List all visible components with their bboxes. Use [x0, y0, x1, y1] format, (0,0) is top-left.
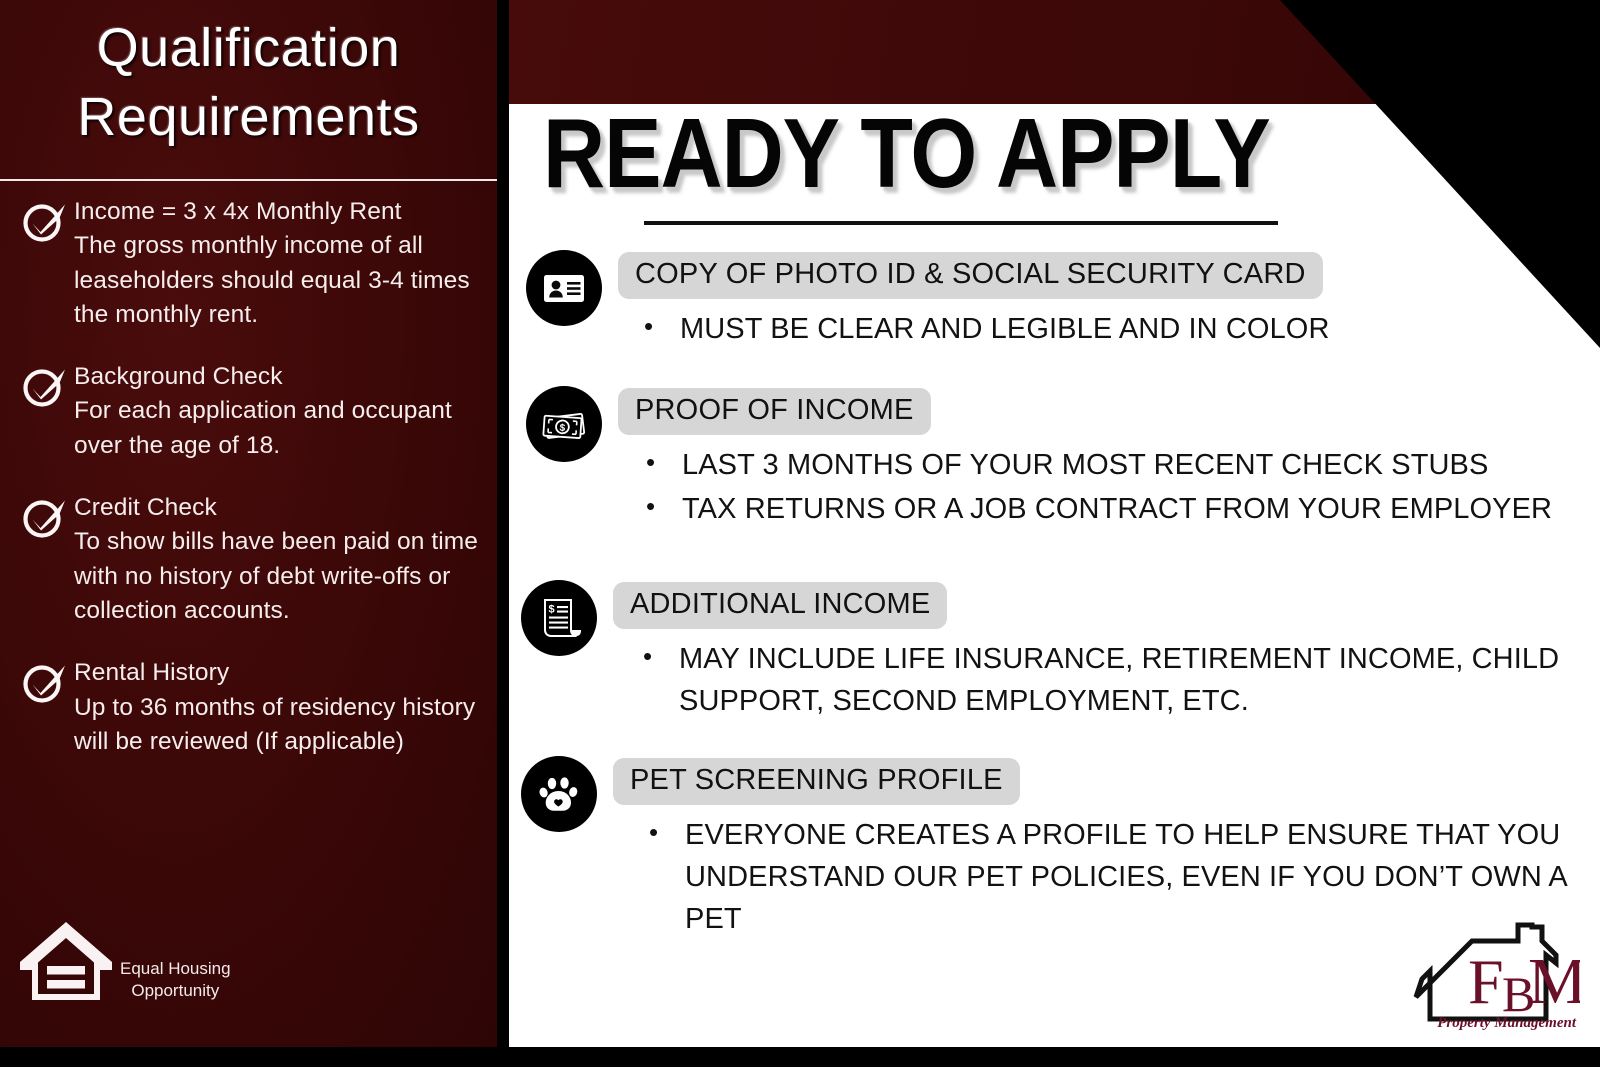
section-body: PROOF OF INCOME LAST 3 MONTHS OF YOUR MO… [618, 386, 1586, 533]
ready-to-apply-title: READY TO APPLY [543, 105, 1270, 203]
section-label: PROOF OF INCOME [618, 388, 931, 435]
svg-text:Property Management: Property Management [1437, 1015, 1577, 1031]
section-photo-id: COPY OF PHOTO ID & SOCIAL SECURITY CARD … [526, 250, 1586, 353]
section-proof-of-income: $ PROOF OF INCOME LAST 3 MONTHS OF YOUR … [526, 386, 1586, 533]
list-item: Background Check For each application an… [14, 358, 487, 463]
equal-housing-line-1: Equal Housing [120, 958, 231, 981]
svg-text:M: M [1528, 945, 1580, 1018]
check-circle-icon [14, 193, 74, 249]
page-title-line-1: Qualification [12, 14, 485, 83]
title-underline-rule [644, 221, 1278, 225]
equal-housing-line-2: Opportunity [120, 980, 231, 1003]
check-circle-icon [14, 489, 74, 545]
paw-print-icon [521, 756, 597, 832]
list-item-heading: Background Check [74, 360, 487, 394]
section-bullet-list: LAST 3 MONTHS OF YOUR MOST RECENT CHECK … [618, 445, 1586, 531]
section-body: ADDITIONAL INCOME MAY INCLUDE LIFE INSUR… [613, 580, 1586, 725]
page-title-line-2: Requirements [12, 83, 485, 152]
list-item-heading: Rental History [74, 656, 487, 690]
equal-housing-opportunity-logo: Equal Housing Opportunity [18, 918, 231, 1009]
check-circle-icon [14, 358, 74, 414]
section-body: COPY OF PHOTO ID & SOCIAL SECURITY CARD … [618, 250, 1586, 353]
svg-text:$: $ [548, 604, 554, 616]
section-label: ADDITIONAL INCOME [613, 582, 947, 629]
list-item: LAST 3 MONTHS OF YOUR MOST RECENT CHECK … [646, 445, 1586, 487]
requirements-list: Income = 3 x 4x Monthly Rent The gross m… [0, 193, 497, 759]
svg-text:F: F [1468, 946, 1504, 1017]
ready-to-apply-panel: READY TO APPLY COPY OF PHOTO ID & SOCIAL… [509, 0, 1600, 1047]
list-item-body: To show bills have been paid on time wit… [74, 525, 487, 628]
list-item: Credit Check To show bills have been pai… [14, 489, 487, 628]
list-item-body: Up to 36 months of residency history wil… [74, 691, 487, 760]
list-item-heading: Credit Check [74, 491, 487, 525]
equal-housing-house-icon [18, 918, 114, 1009]
list-item-text: Background Check For each application an… [74, 358, 487, 463]
id-card-icon [526, 250, 602, 326]
list-item-body: For each application and occupant over t… [74, 394, 487, 463]
equal-housing-label: Equal Housing Opportunity [114, 958, 231, 1009]
section-bullet-list: MUST BE CLEAR AND LEGIBLE AND IN COLOR [618, 309, 1586, 351]
list-item: Rental History Up to 36 months of reside… [14, 654, 487, 759]
cash-bills-icon: $ [526, 386, 602, 462]
invoice-receipt-icon: $ [521, 580, 597, 656]
fbm-property-management-logo: F B M Property Management [1410, 911, 1580, 1033]
list-item: MAY INCLUDE LIFE INSURANCE, RETIREMENT I… [643, 639, 1586, 723]
section-bullet-list: MAY INCLUDE LIFE INSURANCE, RETIREMENT I… [613, 639, 1586, 723]
list-item-body: The gross monthly income of all leasehol… [74, 229, 487, 332]
section-label: PET SCREENING PROFILE [613, 758, 1020, 805]
title-divider [0, 179, 497, 181]
list-item: Income = 3 x 4x Monthly Rent The gross m… [14, 193, 487, 332]
section-additional-income: $ ADDITIONAL INCOME MAY INCLUDE LIFE INS… [521, 580, 1586, 725]
list-item-text: Credit Check To show bills have been pai… [74, 489, 487, 628]
qualification-requirements-panel: Qualification Requirements Income = 3 x … [0, 0, 497, 1047]
poster-canvas: Qualification Requirements Income = 3 x … [0, 0, 1600, 1067]
list-item: MUST BE CLEAR AND LEGIBLE AND IN COLOR [644, 309, 1586, 351]
list-item: TAX RETURNS OR A JOB CONTRACT FROM YOUR … [646, 489, 1586, 531]
check-circle-icon [14, 654, 74, 710]
list-item-heading: Income = 3 x 4x Monthly Rent [74, 195, 487, 229]
section-label: COPY OF PHOTO ID & SOCIAL SECURITY CARD [618, 252, 1323, 299]
list-item-text: Rental History Up to 36 months of reside… [74, 654, 487, 759]
page-title: Qualification Requirements [0, 0, 497, 152]
list-item-text: Income = 3 x 4x Monthly Rent The gross m… [74, 193, 487, 332]
